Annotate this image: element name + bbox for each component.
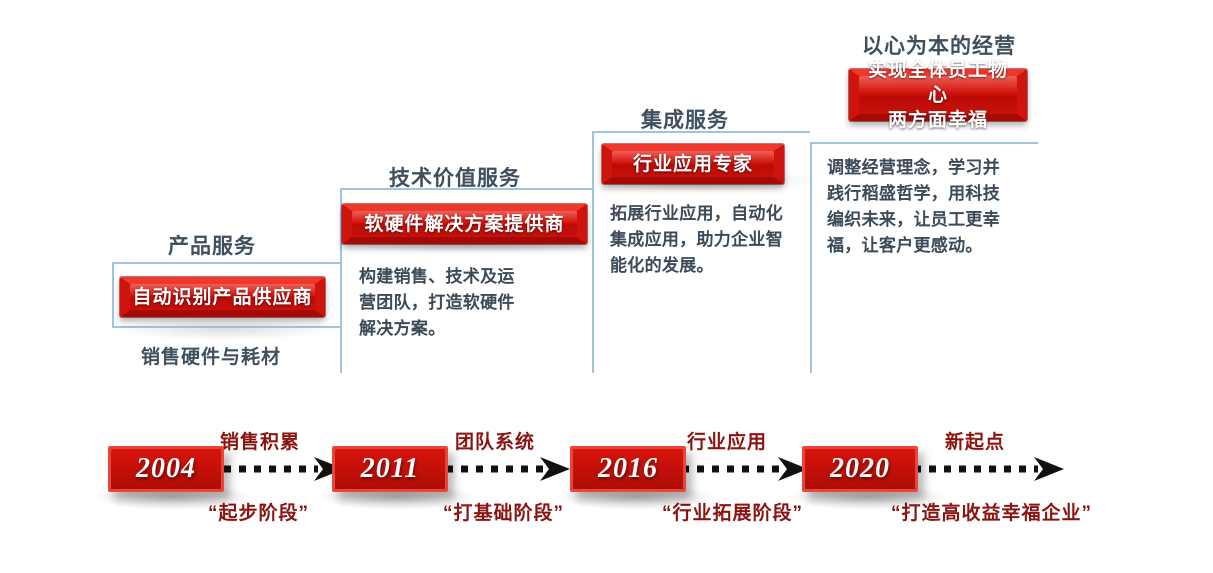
stage-body-2: 构建销售、技术及运 营团队，打造软硬件 解决方案。 [359, 264, 584, 342]
timeline-label-3: 行业应用 [687, 427, 767, 454]
stage-tag-1[interactable]: 自动识别产品供应商 [120, 277, 325, 317]
timeline-year-label-3: 2016 [598, 453, 658, 485]
stage-heading-3: 集成服务 [641, 104, 729, 134]
stage-heading-4: 以心为本的经营 [862, 30, 1016, 60]
stage-tag-label-1: 自动识别产品供应商 [132, 285, 312, 310]
timeline-year-2004[interactable]: 2004 [108, 446, 224, 492]
stage-caption-1: 销售硬件与耗材 [141, 342, 281, 369]
stage-tag-label-3: 行业应用专家 [633, 152, 753, 177]
timeline-year-2011[interactable]: 2011 [332, 446, 448, 492]
timeline-arrow-2 [444, 455, 574, 483]
stage-tag-label-2: 软硬件解决方案提供商 [364, 212, 564, 237]
stage-body-4: 调整经营理念，学习并 践行稻盛哲学，用科技 编织未来，让员工更幸 福，让客户更感… [827, 155, 1035, 259]
timeline-arrow-4 [912, 455, 1068, 483]
stage-tag-4[interactable]: 实现全体员工物心 两方面幸福 [849, 69, 1027, 121]
stage-tag-label-4: 实现全体员工物心 两方面幸福 [859, 58, 1017, 133]
timeline-infographic: 产品服务 自动识别产品供应商 销售硬件与耗材 技术价值服务 软硬件解决方案提供商… [0, 0, 1213, 573]
timeline-label-2: 团队系统 [455, 427, 535, 454]
timeline-arrow-1 [222, 455, 348, 483]
timeline-year-2016[interactable]: 2016 [570, 446, 686, 492]
stage-body-3: 拓展行业应用，自动化 集成应用，助力企业智 能化的发展。 [610, 201, 810, 279]
stage-tag-3[interactable]: 行业应用专家 [602, 144, 784, 184]
timeline-year-label-4: 2020 [830, 453, 890, 485]
timeline-year-label-1: 2004 [136, 453, 196, 485]
timeline-label-1: 销售积累 [220, 427, 300, 454]
stage-heading-2: 技术价值服务 [389, 162, 521, 192]
timeline-arrow-3 [680, 455, 812, 483]
stage-tag-2[interactable]: 软硬件解决方案提供商 [342, 204, 587, 244]
timeline-label-4: 新起点 [945, 427, 1005, 454]
stage-heading-1: 产品服务 [168, 230, 256, 260]
timeline-year-label-2: 2011 [361, 453, 419, 485]
timeline-year-2020[interactable]: 2020 [802, 446, 918, 492]
